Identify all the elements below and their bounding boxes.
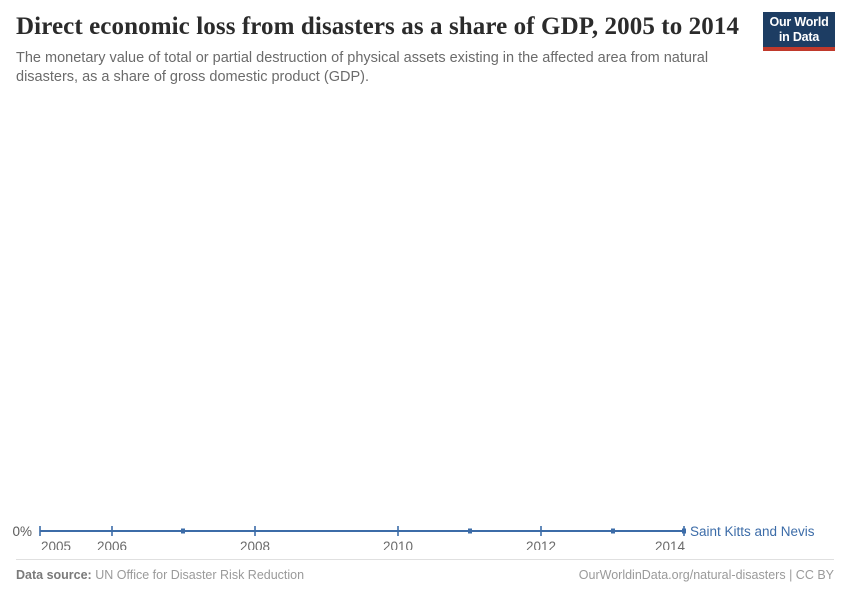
our-world-in-data-logo[interactable]: Our World in Data [763, 12, 835, 51]
logo-line-1: Our World [769, 16, 828, 29]
x-axis-tick-label-2005: 2005 [41, 539, 71, 550]
x-axis-tick-label-2012: 2012 [526, 539, 556, 550]
footer-divider [16, 559, 834, 560]
data-source-label: Data source: [16, 568, 92, 582]
y-axis-tick-label-0: 0% [12, 524, 32, 539]
data-point-2013[interactable] [611, 529, 615, 534]
data-point-2014[interactable] [682, 529, 686, 534]
x-axis-tick-label-2010: 2010 [383, 539, 413, 550]
data-source-value: UN Office for Disaster Risk Reduction [95, 568, 304, 582]
chart-subtitle: The monetary value of total or partial d… [16, 49, 732, 87]
data-point-2011[interactable] [468, 529, 472, 534]
data-point-2007[interactable] [181, 529, 185, 534]
x-axis-tick-labels: 2005 2006 2008 2010 2012 2014 [41, 539, 686, 550]
logo-line-2: in Data [779, 31, 819, 44]
chart-footer: Data source: UN Office for Disaster Risk… [16, 568, 834, 588]
line-chart-svg[interactable]: 0% 2005 2006 2008 2010 2012 2014 [0, 95, 850, 550]
attribution-link[interactable]: OurWorldinData.org/natural-disasters | C… [579, 568, 834, 582]
series-label-saint-kitts-and-nevis[interactable]: Saint Kitts and Nevis [690, 524, 815, 539]
page-title: Direct economic loss from disasters as a… [16, 12, 756, 42]
x-axis-tick-label-2006: 2006 [97, 539, 127, 550]
x-axis-tick-label-2008: 2008 [240, 539, 270, 550]
chart-header: Direct economic loss from disasters as a… [16, 12, 756, 87]
data-source: Data source: UN Office for Disaster Risk… [16, 568, 304, 582]
chart-plot-area[interactable]: 0% 2005 2006 2008 2010 2012 2014 [0, 95, 850, 550]
x-axis-tick-label-2014: 2014 [655, 539, 686, 550]
